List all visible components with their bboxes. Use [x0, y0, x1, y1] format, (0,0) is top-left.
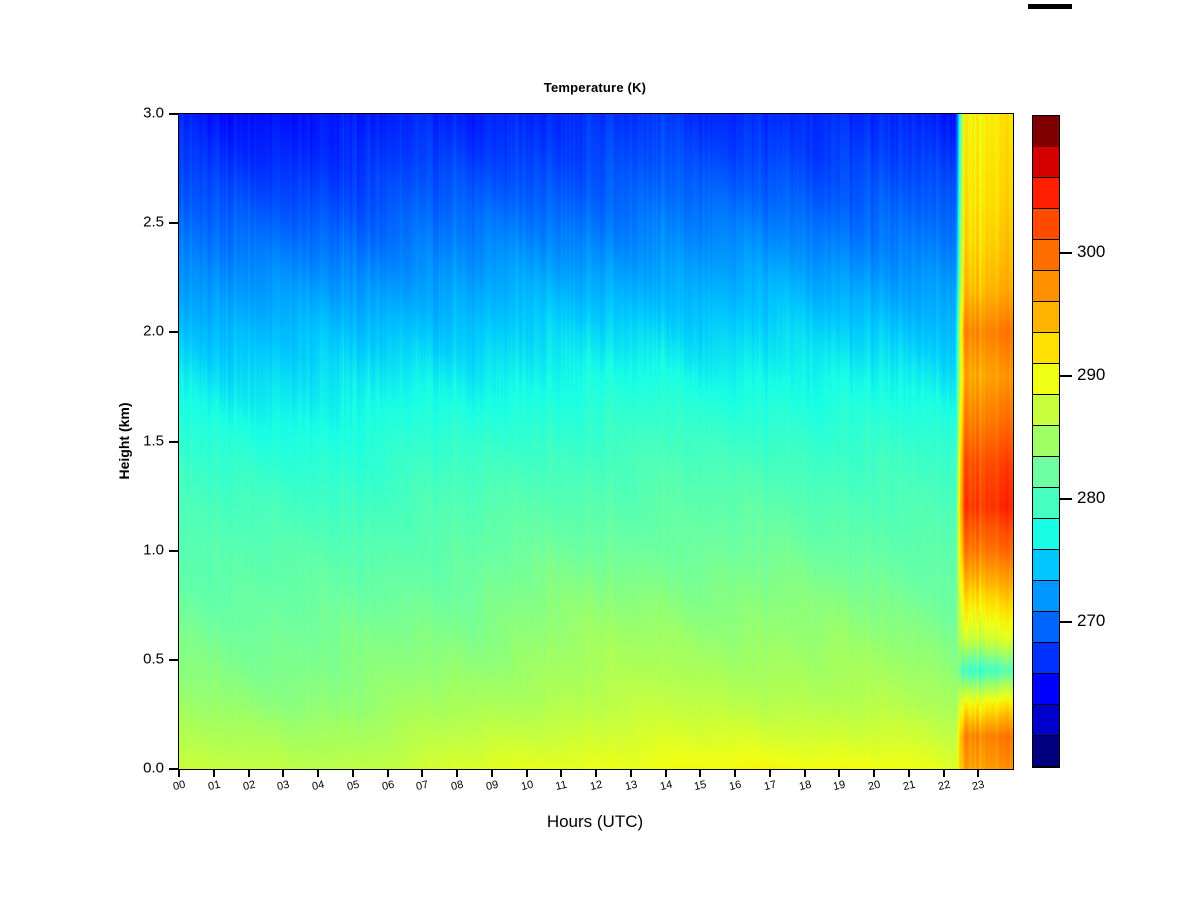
y-axis-title: Height (km) — [116, 351, 132, 531]
colorbar-band — [1033, 116, 1059, 147]
x-tick-label: 03 — [276, 779, 290, 793]
colorbar-band — [1033, 643, 1059, 674]
y-tick-mark — [169, 659, 178, 661]
colorbar-band — [1033, 550, 1059, 581]
colorbar-tick-label: 270 — [1077, 611, 1105, 631]
y-tick-label: 1.0 — [143, 541, 164, 558]
x-tick-mark — [977, 769, 979, 777]
colorbar-tick-mark — [1060, 375, 1072, 377]
colorbar-tick-label: 290 — [1077, 365, 1105, 385]
x-tick-mark — [630, 769, 632, 777]
colorbar-band — [1033, 395, 1059, 426]
x-tick-mark — [595, 769, 597, 777]
x-tick-label: 22 — [937, 779, 951, 793]
colorbar-tick-mark — [1060, 252, 1072, 254]
colorbar-ticks: 270280290300 — [1060, 115, 1170, 768]
x-tick-label: 17 — [763, 779, 777, 793]
colorbar-band — [1033, 426, 1059, 457]
top-black-bar-artifact — [1028, 4, 1072, 9]
x-tick-mark — [248, 769, 250, 777]
colorbar-tick-mark — [1060, 498, 1072, 500]
y-tick-mark — [169, 331, 178, 333]
x-tick-mark — [456, 769, 458, 777]
x-tick-mark — [804, 769, 806, 777]
x-tick-mark — [873, 769, 875, 777]
x-tick-mark — [352, 769, 354, 777]
colorbar-band — [1033, 581, 1059, 612]
colorbar — [1032, 115, 1060, 768]
y-tick-label: 1.5 — [143, 432, 164, 449]
x-tick-mark — [560, 769, 562, 777]
y-tick-mark — [169, 113, 178, 115]
x-tick-mark — [282, 769, 284, 777]
colorbar-tick-mark — [1060, 621, 1072, 623]
colorbar-band — [1033, 333, 1059, 364]
x-tick-mark — [908, 769, 910, 777]
colorbar-band — [1033, 612, 1059, 643]
colorbar-tick-label: 280 — [1077, 488, 1105, 508]
x-axis: 0001020304050607080910111213141516171819… — [178, 769, 1012, 809]
colorbar-band — [1033, 457, 1059, 488]
x-tick-mark — [491, 769, 493, 777]
x-tick-label: 02 — [242, 779, 256, 793]
temperature-heatmap — [179, 114, 1013, 769]
x-tick-label: 16 — [728, 779, 742, 793]
colorbar-band — [1033, 209, 1059, 240]
x-tick-mark — [734, 769, 736, 777]
x-tick-mark — [838, 769, 840, 777]
x-tick-label: 13 — [624, 779, 638, 793]
x-tick-label: 18 — [798, 779, 812, 793]
x-tick-mark — [526, 769, 528, 777]
colorbar-band — [1033, 736, 1059, 767]
x-tick-label: 14 — [659, 779, 673, 793]
x-tick-label: 09 — [485, 779, 499, 793]
x-tick-mark — [387, 769, 389, 777]
x-axis-title: Hours (UTC) — [178, 812, 1012, 832]
colorbar-tick-label: 300 — [1077, 242, 1105, 262]
x-tick-label: 10 — [520, 779, 534, 793]
x-tick-label: 23 — [971, 779, 985, 793]
x-tick-label: 19 — [832, 779, 846, 793]
colorbar-band — [1033, 519, 1059, 550]
page-title: Temperature (K) — [178, 80, 1012, 95]
colorbar-band — [1033, 240, 1059, 271]
x-tick-label: 06 — [381, 779, 395, 793]
colorbar-band — [1033, 488, 1059, 519]
colorbar-band — [1033, 302, 1059, 333]
x-tick-mark — [769, 769, 771, 777]
x-tick-mark — [421, 769, 423, 777]
x-tick-label: 04 — [311, 779, 325, 793]
heatmap-plot-area — [178, 113, 1014, 770]
y-tick-mark — [169, 768, 178, 770]
x-tick-label: 07 — [415, 779, 429, 793]
x-tick-label: 21 — [902, 779, 916, 793]
y-tick-label: 0.5 — [143, 650, 164, 667]
y-tick-mark — [169, 441, 178, 443]
x-tick-label: 20 — [867, 779, 881, 793]
colorbar-band — [1033, 705, 1059, 736]
colorbar-band — [1033, 178, 1059, 209]
x-tick-label: 00 — [172, 779, 186, 793]
x-tick-label: 12 — [589, 779, 603, 793]
colorbar-band — [1033, 271, 1059, 302]
x-tick-label: 15 — [693, 779, 707, 793]
x-tick-label: 01 — [207, 779, 221, 793]
x-tick-label: 05 — [346, 779, 360, 793]
y-tick-mark — [169, 222, 178, 224]
y-tick-label: 3.0 — [143, 105, 164, 122]
x-tick-label: 08 — [450, 779, 464, 793]
x-tick-mark — [665, 769, 667, 777]
colorbar-band — [1033, 147, 1059, 178]
x-tick-label: 11 — [555, 779, 569, 793]
x-tick-mark — [699, 769, 701, 777]
x-tick-mark — [213, 769, 215, 777]
colorbar-band — [1033, 674, 1059, 705]
y-tick-label: 2.5 — [143, 214, 164, 231]
x-tick-mark — [178, 769, 180, 777]
x-tick-mark — [943, 769, 945, 777]
y-tick-label: 0.0 — [143, 760, 164, 777]
colorbar-band — [1033, 364, 1059, 395]
y-tick-mark — [169, 550, 178, 552]
temperature-time-height-figure: Temperature (K) 0.00.51.01.52.02.53.0 He… — [0, 0, 1200, 900]
x-tick-mark — [317, 769, 319, 777]
y-tick-label: 2.0 — [143, 323, 164, 340]
y-axis-title-wrapper: Height (km) — [78, 113, 98, 768]
